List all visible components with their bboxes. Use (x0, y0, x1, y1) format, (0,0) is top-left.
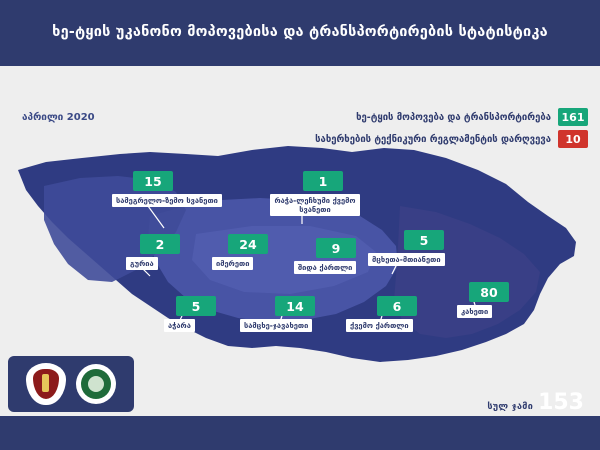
region-label-wrap-kakheti: კახეთი (457, 303, 492, 318)
region-marker-kvemo-kartli: 6 (377, 296, 417, 316)
coat-of-arms-icon (26, 363, 66, 405)
region-name-samtskhe: სამცხე-ჯავახეთი (240, 319, 312, 332)
region-value-imereti: 24 (228, 234, 268, 254)
region-label-wrap-guria: გურია (126, 255, 158, 270)
region-value-shida-kartli: 9 (316, 238, 356, 258)
region-value-adjara: 5 (176, 296, 216, 316)
emblem-plate (8, 356, 134, 412)
region-value-racha: 1 (303, 171, 343, 191)
legend-row-sawmill: სახერხების ტექნიკური რეგლამენტის დარღვევ… (315, 130, 588, 148)
region-marker-imereti: 24 (228, 234, 268, 254)
region-value-guria: 2 (140, 234, 180, 254)
infographic-root: ხე-ტყის უკანონო მოპოვებისა და ტრანსპორტი… (0, 0, 600, 450)
region-marker-samegrelo: 15 (133, 171, 173, 191)
region-marker-adjara: 5 (176, 296, 216, 316)
region-value-kakheti: 80 (469, 282, 509, 302)
region-value-samegrelo: 15 (133, 171, 173, 191)
region-label-wrap-samegrelo: სამეგრელო-ზემო სვანეთი (112, 192, 222, 207)
region-value-samtskhe: 14 (275, 296, 315, 316)
legend-label-harvest: ხე-ტყის მოპოვება და ტრანსპორტირება (356, 112, 558, 123)
total-value: 153 (538, 392, 584, 414)
region-marker-shida-kartli: 9 (316, 238, 356, 258)
legend-row-harvest: ხე-ტყის მოპოვება და ტრანსპორტირება 161 (356, 108, 588, 126)
region-marker-racha: 1 (303, 171, 343, 191)
agency-seal-icon (76, 364, 116, 404)
region-label-wrap-samtskhe: სამცხე-ჯავახეთი (240, 317, 312, 332)
region-name-kvemo-kartli: ქვემო ქართლი (346, 319, 413, 332)
legend-value-sawmill: 10 (558, 130, 588, 148)
region-label-wrap-shida-kartli: შიდა ქართლი (294, 259, 356, 274)
footer-bar (0, 416, 600, 450)
region-marker-kakheti: 80 (469, 282, 509, 302)
legend-value-harvest: 161 (558, 108, 588, 126)
page-title: ხე-ტყის უკანონო მოპოვებისა და ტრანსპორტი… (0, 24, 600, 40)
date-label: აპრილი 2020 (22, 112, 95, 123)
region-marker-samtskhe: 14 (275, 296, 315, 316)
region-marker-mtskheta: 5 (404, 230, 444, 250)
legend-label-sawmill: სახერხების ტექნიკური რეგლამენტის დარღვევ… (315, 134, 558, 145)
region-marker-guria: 2 (140, 234, 180, 254)
total-block: სულ ჯამი 153 (487, 392, 584, 414)
region-name-adjara: აჭარა (164, 319, 195, 332)
total-label: სულ ჯამი (487, 402, 533, 412)
region-name-kakheti: კახეთი (457, 305, 492, 318)
region-value-mtskheta: 5 (404, 230, 444, 250)
region-label-wrap-racha: რაჭა-ლეჩხუმი ქვემო სვანეთი (272, 192, 358, 216)
region-name-imereti: იმერეთი (212, 257, 253, 270)
region-value-kvemo-kartli: 6 (377, 296, 417, 316)
region-label-wrap-kvemo-kartli: ქვემო ქართლი (346, 317, 413, 332)
region-name-mtskheta: მცხეთა-მთიანეთი (368, 253, 445, 266)
region-name-shida-kartli: შიდა ქართლი (294, 261, 356, 274)
region-name-samegrelo: სამეგრელო-ზემო სვანეთი (112, 194, 222, 207)
region-name-racha: რაჭა-ლეჩხუმი ქვემო სვანეთი (270, 194, 360, 216)
region-label-wrap-mtskheta: მცხეთა-მთიანეთი (368, 251, 445, 266)
region-name-guria: გურია (126, 257, 158, 270)
region-label-wrap-imereti: იმერეთი (212, 255, 253, 270)
leader-line-samegrelo (148, 206, 164, 228)
region-label-wrap-adjara: აჭარა (164, 317, 195, 332)
